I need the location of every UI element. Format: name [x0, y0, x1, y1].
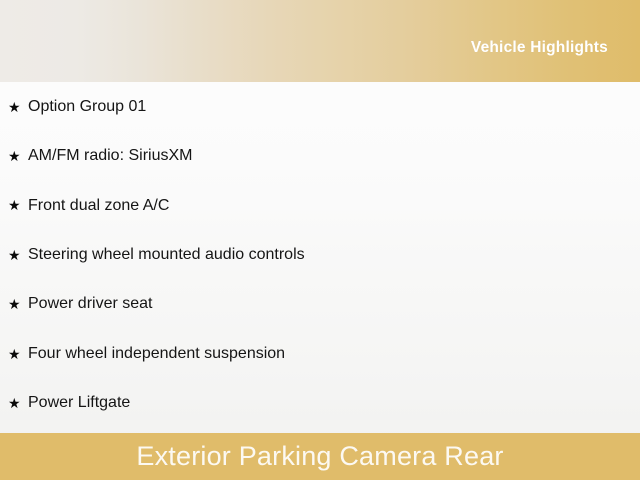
star-icon: ★	[8, 100, 28, 114]
list-item: ★ Front dual zone A/C	[0, 181, 640, 230]
highlight-label: Steering wheel mounted audio controls	[28, 246, 305, 264]
page-title: Vehicle Highlights	[471, 39, 640, 57]
highlight-label: Power driver seat	[28, 295, 153, 313]
star-icon: ★	[8, 248, 28, 262]
highlight-label: Four wheel independent suspension	[28, 345, 285, 363]
list-item: ★ AM/FM radio: SiriusXM	[0, 131, 640, 180]
list-item: ★ Power driver seat	[0, 280, 640, 329]
list-item: ★ Four wheel independent suspension	[0, 329, 640, 378]
footer-caption: Exterior Parking Camera Rear	[136, 443, 503, 470]
star-icon: ★	[8, 198, 28, 212]
star-icon: ★	[8, 396, 28, 410]
header-band: Vehicle Highlights	[0, 0, 640, 82]
highlight-label: Option Group 01	[28, 98, 146, 116]
star-icon: ★	[8, 149, 28, 163]
highlight-label: Power Liftgate	[28, 394, 130, 412]
highlight-label: Front dual zone A/C	[28, 197, 169, 215]
list-item: ★ Option Group 01	[0, 82, 640, 131]
list-item: ★ Power Liftgate	[0, 378, 640, 427]
highlight-label: AM/FM radio: SiriusXM	[28, 147, 192, 165]
vehicle-highlights-slide: Vehicle Highlights ★ Option Group 01 ★ A…	[0, 0, 640, 480]
star-icon: ★	[8, 347, 28, 361]
star-icon: ★	[8, 297, 28, 311]
list-item: ★ Steering wheel mounted audio controls	[0, 230, 640, 279]
highlights-list: ★ Option Group 01 ★ AM/FM radio: SiriusX…	[0, 82, 640, 433]
footer-band: Exterior Parking Camera Rear	[0, 433, 640, 480]
